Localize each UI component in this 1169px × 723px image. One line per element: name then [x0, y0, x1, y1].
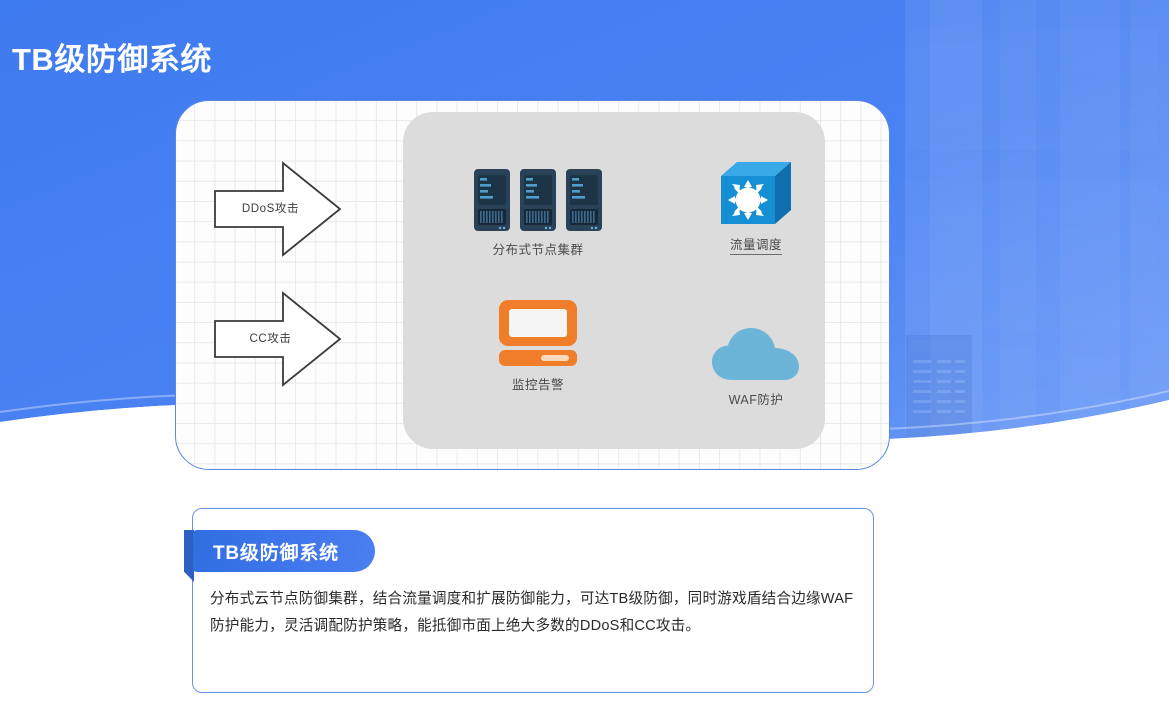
traffic-scheduler-icon — [666, 156, 846, 228]
monitor-alert-icon — [448, 296, 628, 368]
ddos-attack-arrow: DDoS攻击 — [213, 159, 343, 259]
cc-attack-label: CC攻击 — [213, 330, 328, 346]
node-monitor-alert: 监控告警 — [448, 296, 628, 393]
info-card: TB级防御系统 分布式云节点防御集群，结合流量调度和扩展防御能力，可达TB级防御… — [192, 508, 874, 693]
node-server-cluster: 分布式节点集群 — [448, 161, 628, 258]
node-label-server-cluster: 分布式节点集群 — [448, 239, 628, 258]
ddos-attack-label: DDoS攻击 — [213, 200, 328, 216]
office-photo-overlay — [905, 0, 1169, 470]
waf-cloud-icon — [666, 311, 846, 383]
page-root: TB级防御系统 DDoS攻击 CC攻击 — [0, 0, 1169, 723]
node-label-traffic-scheduler: 流量调度 — [730, 234, 782, 255]
node-label-monitor-alert: 监控告警 — [448, 374, 628, 393]
badge-title: TB级防御系统 — [193, 530, 375, 572]
node-traffic-scheduler: 流量调度 — [666, 156, 846, 255]
cc-attack-arrow: CC攻击 — [213, 289, 343, 389]
server-cluster-icon — [448, 161, 628, 233]
node-waf-protection: WAF防护 — [666, 311, 846, 408]
page-title: TB级防御系统 — [12, 34, 212, 79]
node-label-waf-protection: WAF防护 — [666, 389, 846, 408]
architecture-diagram-card: DDoS攻击 CC攻击 — [175, 100, 890, 470]
info-board-graphic — [906, 335, 1014, 440]
info-card-description: 分布式云节点防御集群，结合流量调度和扩展防御能力，可达TB级防御，同时游戏盾结合… — [210, 586, 858, 640]
